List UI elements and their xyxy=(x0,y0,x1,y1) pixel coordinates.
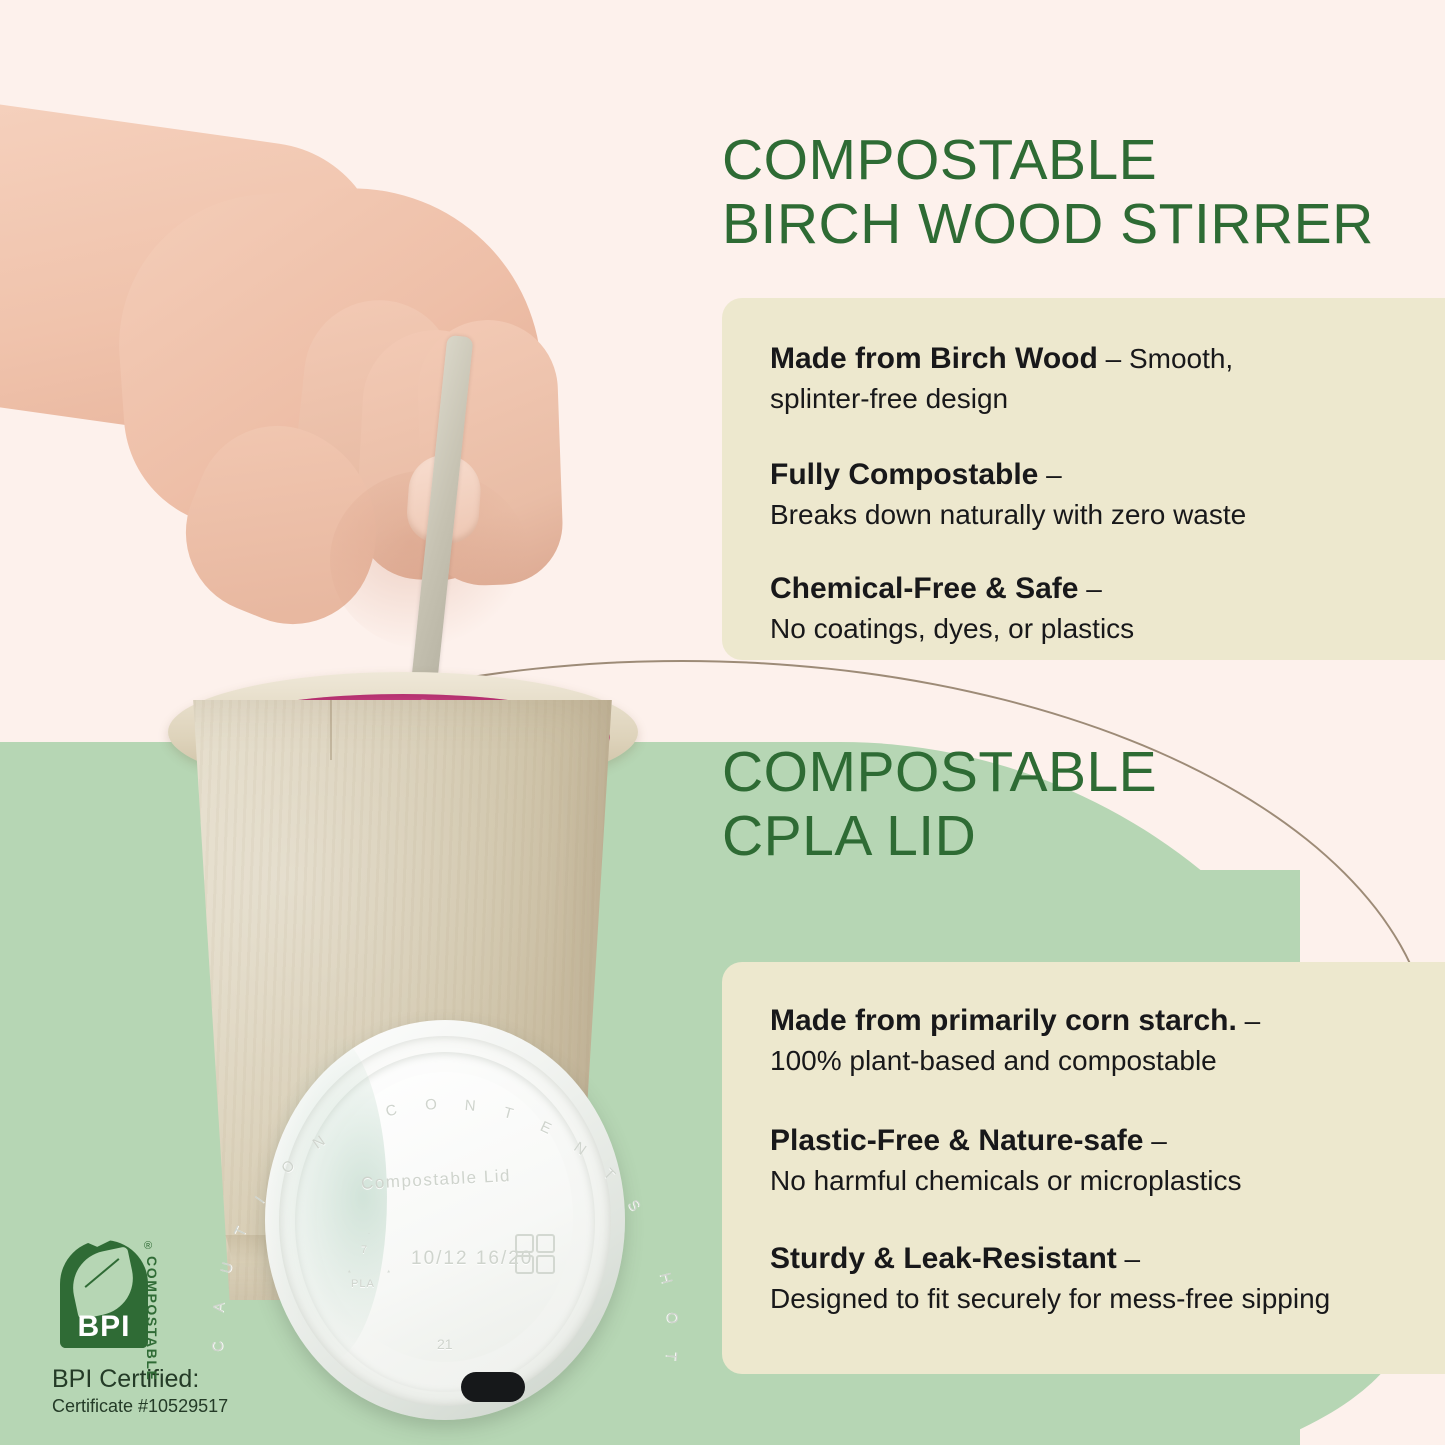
feature-item: Sturdy & Leak-Resistant – Designed to fi… xyxy=(770,1240,1410,1317)
bpi-certificate-number: Certificate #10529517 xyxy=(52,1394,272,1418)
bpi-compostable-vertical-text: COMPOSTABLE xyxy=(144,1256,160,1381)
feature-item: Made from Birch Wood – Smooth, splinter-… xyxy=(770,340,1410,417)
feature-title: Sturdy & Leak-Resistant xyxy=(770,1242,1117,1275)
feature-card-lid: Made from primarily corn starch. – 100% … xyxy=(722,962,1445,1374)
feature-dash: – xyxy=(1237,1005,1260,1036)
feature-item: Made from primarily corn starch. – 100% … xyxy=(770,1002,1410,1079)
product-photo: CAUTION CONTENTS HOT Compostable Lid 7 P… xyxy=(0,0,700,1445)
feature-dash: – xyxy=(1078,573,1101,604)
bpi-certification: BPI ® COMPOSTABLE BPI Certified: Certifi… xyxy=(52,1238,272,1418)
squares-mark-icon xyxy=(515,1234,555,1274)
content-column: COMPOSTABLE BIRCH WOOD STIRRER Made from… xyxy=(722,0,1445,1445)
bpi-compostable-logo-icon: BPI ® COMPOSTABLE xyxy=(52,1238,172,1358)
infographic-canvas: CAUTION CONTENTS HOT Compostable Lid 7 P… xyxy=(0,0,1445,1445)
feature-title: Plastic-Free & Nature-safe xyxy=(770,1124,1143,1157)
cup-seam xyxy=(330,700,332,760)
feature-description: Designed to fit securely for mess-free s… xyxy=(770,1280,1410,1317)
feature-description: Breaks down naturally with zero waste xyxy=(770,496,1410,533)
feature-title: Chemical-Free & Safe xyxy=(770,572,1078,605)
feature-description: 100% plant-based and compostable xyxy=(770,1042,1410,1079)
feature-dash: – xyxy=(1038,459,1061,490)
section-heading-lid: COMPOSTABLE CPLA LID xyxy=(722,740,1157,868)
feature-dash: – xyxy=(1143,1125,1166,1156)
lid-drinking-slot xyxy=(461,1372,525,1402)
feature-title: Made from primarily corn starch. xyxy=(770,1004,1237,1037)
feature-inline-rest: Smooth, xyxy=(1129,343,1233,374)
feature-card-stirrer: Made from Birch Wood – Smooth, splinter-… xyxy=(722,298,1445,660)
cpla-lid: CAUTION CONTENTS HOT Compostable Lid 7 P… xyxy=(265,1020,625,1445)
bpi-caption: BPI Certified: xyxy=(52,1364,272,1394)
feature-title: Fully Compostable xyxy=(770,458,1038,491)
feature-description: No coatings, dyes, or plastics xyxy=(770,610,1410,647)
bpi-wordmark: BPI xyxy=(64,1310,144,1344)
lid-green-tint xyxy=(267,1032,387,1362)
feature-dash: – xyxy=(1098,343,1129,374)
feature-description: No harmful chemicals or microplastics xyxy=(770,1162,1410,1199)
feature-title: Made from Birch Wood xyxy=(770,342,1098,375)
feature-item: Chemical-Free & Safe – No coatings, dyes… xyxy=(770,570,1410,647)
feature-dash: – xyxy=(1117,1243,1140,1274)
feature-item: Plastic-Free & Nature-safe – No harmful … xyxy=(770,1122,1410,1199)
feature-item: Fully Compostable – Breaks down naturall… xyxy=(770,456,1410,533)
registered-trademark-icon: ® xyxy=(144,1240,152,1252)
section-heading-stirrer: COMPOSTABLE BIRCH WOOD STIRRER xyxy=(722,128,1374,256)
feature-description: splinter-free design xyxy=(770,380,1410,417)
